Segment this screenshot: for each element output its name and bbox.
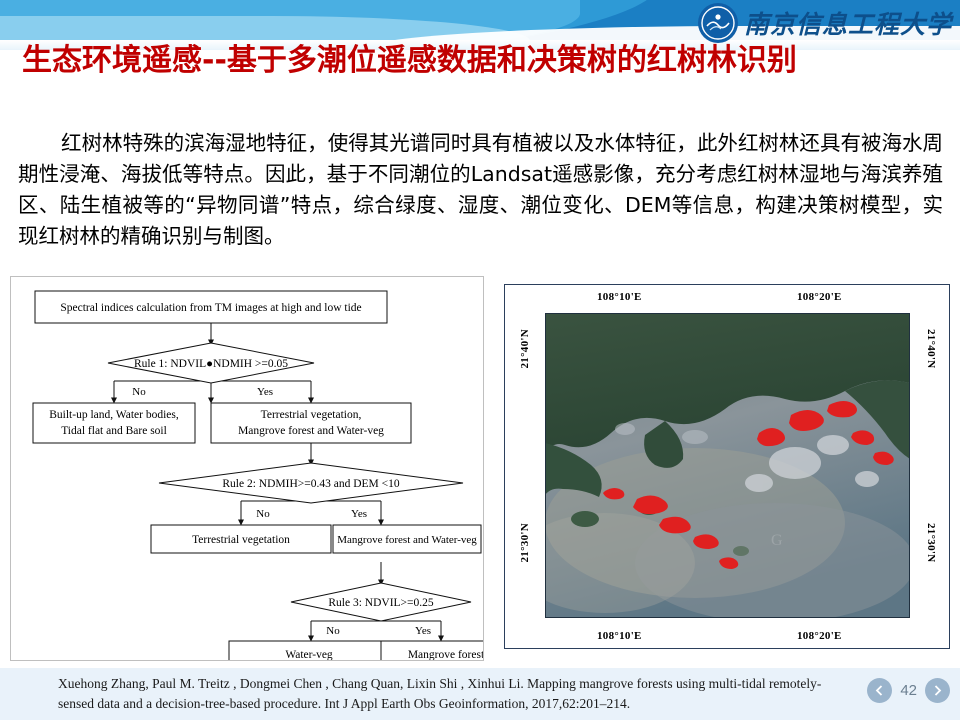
- flowchart-waterveg: Water-veg: [285, 649, 333, 660]
- citation-text: Xuehong Zhang, Paul M. Treitz , Dongmei …: [0, 668, 960, 720]
- flowchart-rule2-yes: Yes: [351, 508, 367, 520]
- flowchart-rule1-yes: Yes: [257, 386, 273, 398]
- flowchart-terrestrial-line2: Mangrove forest and Water-veg: [238, 425, 384, 437]
- chevron-right-icon[interactable]: [925, 678, 950, 703]
- university-logo: 南京信息工程大学: [698, 2, 952, 44]
- flowchart-terrestrial-veg: Terrestrial vegetation: [192, 534, 290, 546]
- flowchart-rule3: Rule 3: NDVIL>=0.25: [328, 597, 434, 609]
- flowchart-rule2: Rule 2: NDMIH>=0.43 and DEM <10: [222, 478, 400, 490]
- flowchart-builtup-line1: Built-up land, Water bodies,: [49, 409, 179, 421]
- map-label-lon-bottom-right: 108°20'E: [797, 630, 842, 642]
- flowchart-rule2-no: No: [256, 508, 270, 520]
- satellite-image: G: [545, 313, 910, 618]
- body-paragraph: 红树林特殊的滨海湿地特征，使得其光谱同时具有植被以及水体特征，此外红树林还具有被…: [18, 128, 943, 253]
- flowchart-builtup-line2: Tidal flat and Bare soil: [61, 425, 167, 437]
- university-logo-text: 南京信息工程大学: [744, 5, 952, 41]
- page-number: 42: [900, 682, 917, 699]
- flowchart-rule3-yes: Yes: [415, 625, 431, 637]
- figure-row: Spectral indices calculation from TM ima…: [10, 276, 950, 661]
- chevron-left-icon[interactable]: [867, 678, 892, 703]
- page-title: 生态环境遥感--基于多潮位遥感数据和决策树的红树林识别: [22, 42, 927, 80]
- flowchart-mangrove: Mangrove forest: [408, 649, 483, 660]
- map-label-lon-top-right: 108°20'E: [797, 291, 842, 303]
- map-label-lat-left-bottom: 21°30'N: [519, 523, 531, 563]
- map-label-lon-bottom-left: 108°10'E: [597, 630, 642, 642]
- map-label-lat-right-top: 21°40'N: [925, 329, 937, 369]
- slide-navigation: 42: [867, 678, 950, 703]
- decision-tree-flowchart: Spectral indices calculation from TM ima…: [10, 276, 484, 661]
- flowchart-terrestrial-line1: Terrestrial vegetation,: [261, 409, 362, 421]
- flowchart-mangrove-waterveg: Mangrove forest and Water-veg: [337, 534, 477, 546]
- flowchart-canvas: Spectral indices calculation from TM ima…: [11, 277, 483, 660]
- satellite-map-figure: 108°10'E 108°20'E 108°10'E 108°20'E 21°4…: [504, 284, 950, 649]
- flowchart-rule1-no: No: [132, 386, 146, 398]
- map-label-lon-top-left: 108°10'E: [597, 291, 642, 303]
- flowchart-rule3-no: No: [326, 625, 340, 637]
- university-emblem-icon: [698, 3, 738, 43]
- flowchart-rule1: Rule 1: NDVIL●NDMIH >=0.05: [134, 358, 288, 370]
- paragraph-text: 红树林特殊的滨海湿地特征，使得其光谱同时具有植被以及水体特征，此外红树林还具有被…: [18, 131, 943, 248]
- svg-text:G: G: [771, 532, 783, 549]
- map-label-lat-left-top: 21°40'N: [519, 329, 531, 369]
- map-label-lat-right-bottom: 21°30'N: [925, 523, 937, 563]
- flowchart-title-box: Spectral indices calculation from TM ima…: [60, 302, 361, 314]
